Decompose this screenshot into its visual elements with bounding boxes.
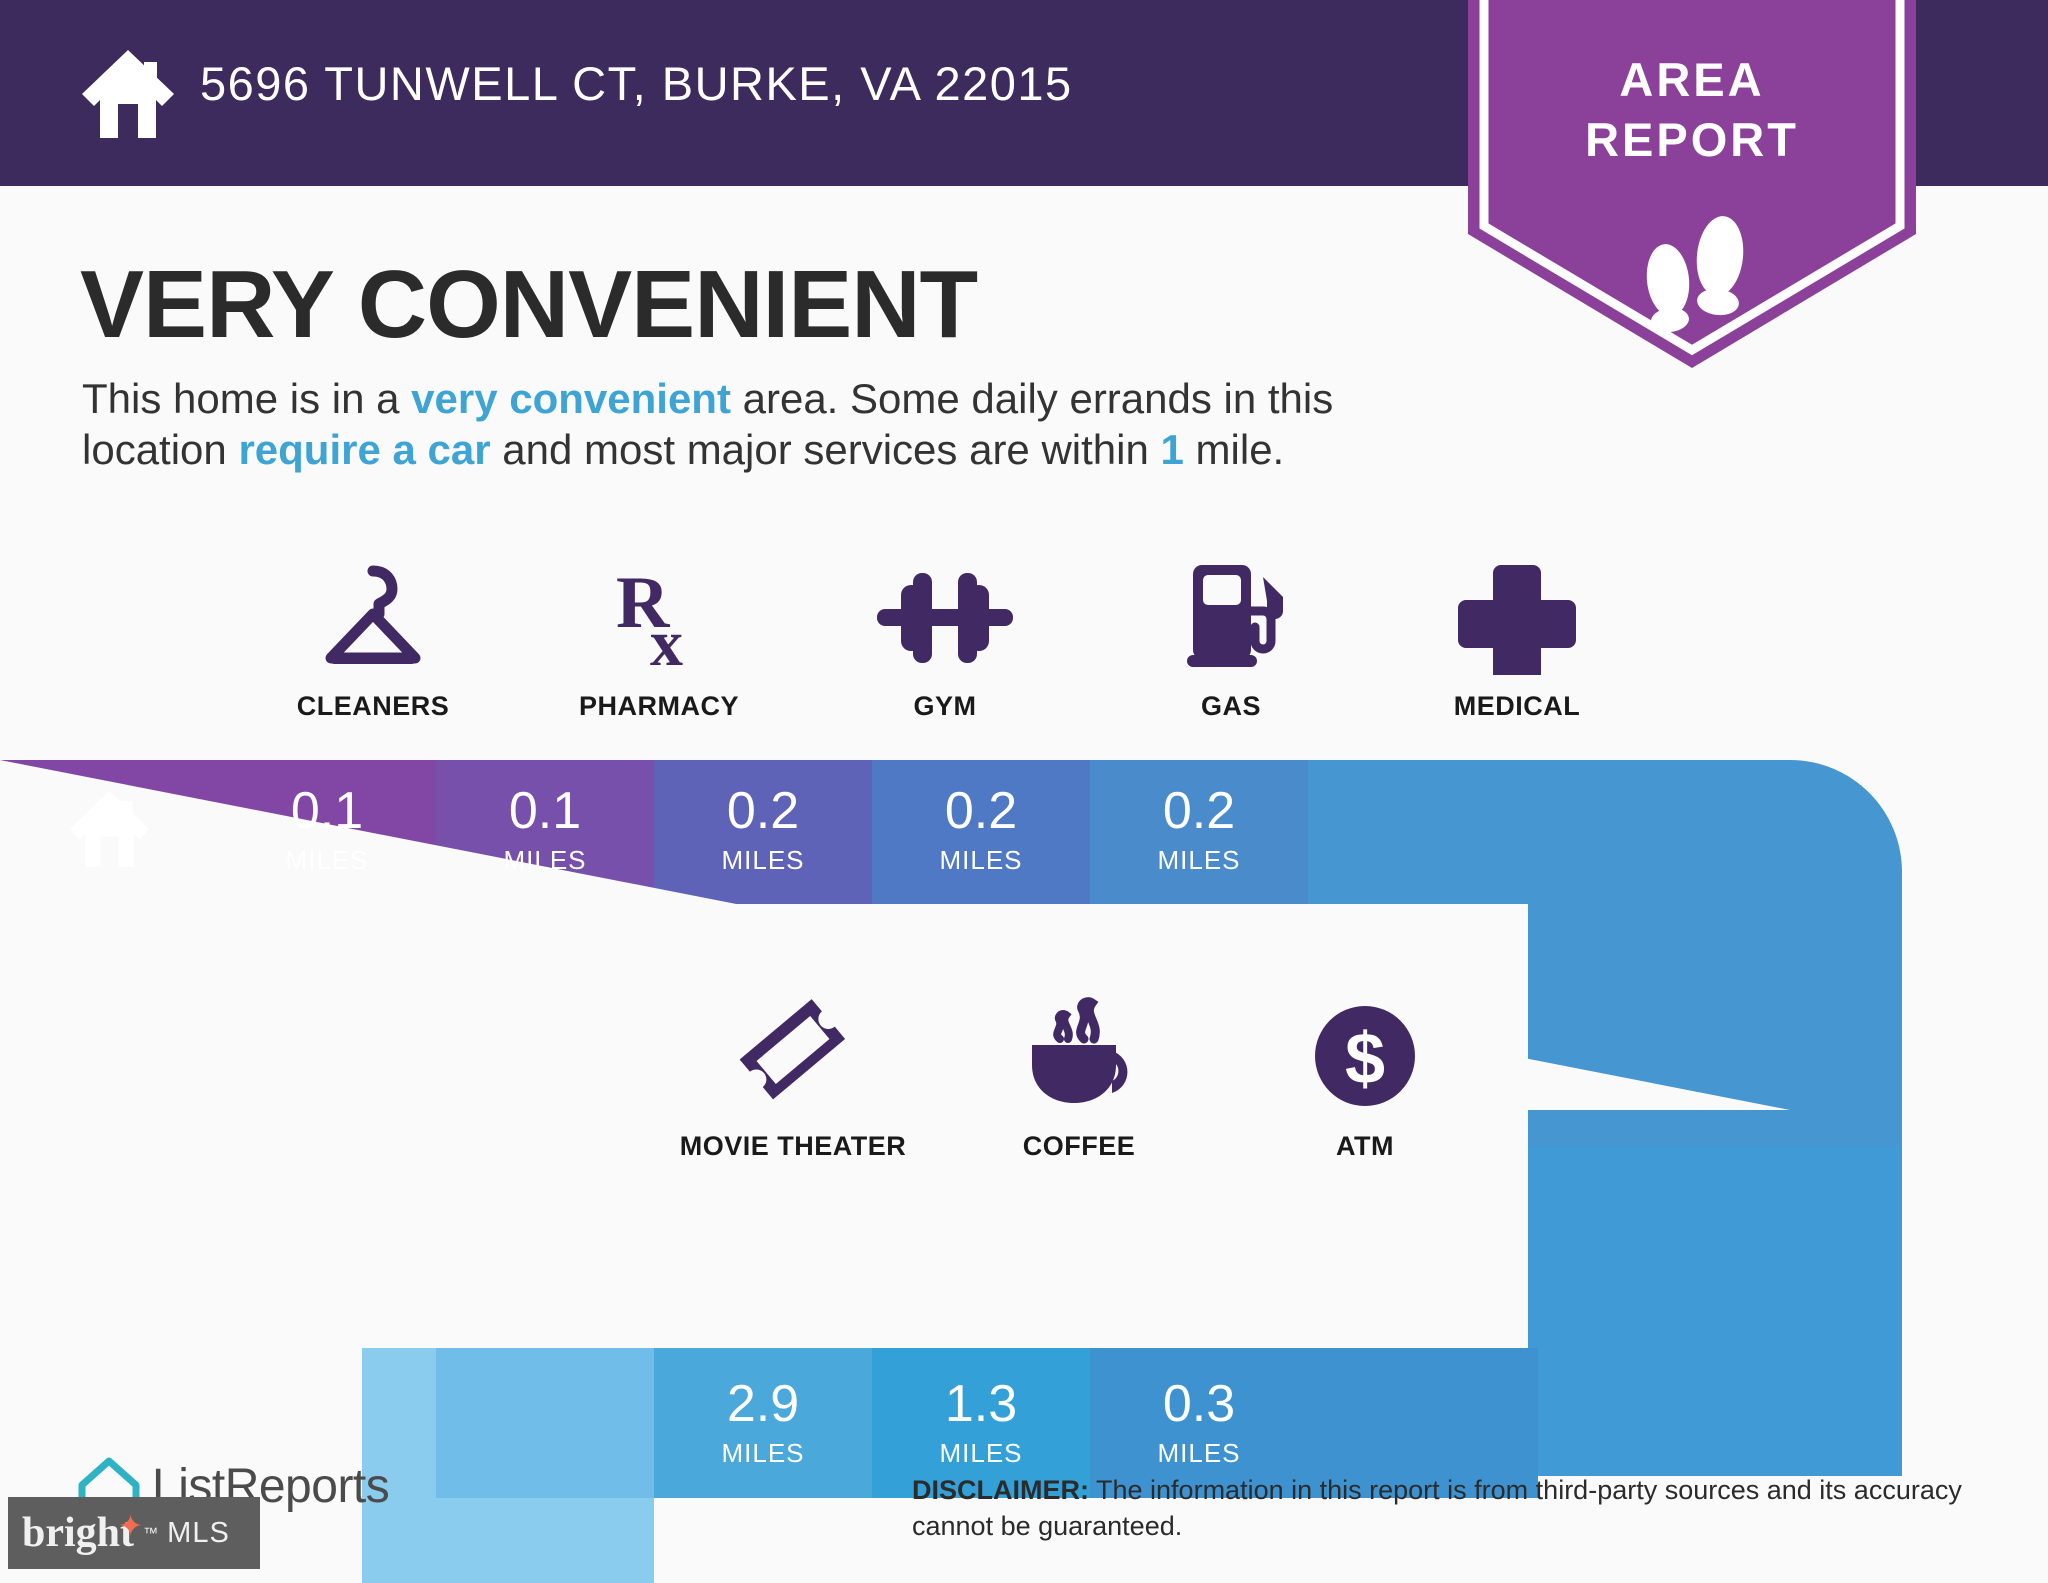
- distance-pharmacy: 0.1 MILES: [436, 756, 654, 904]
- hanger-icon: [314, 545, 432, 675]
- distance-unit: MILES: [721, 845, 804, 876]
- badge-line-2: REPORT: [1468, 112, 1916, 167]
- distance-gym: 0.2 MILES: [654, 756, 872, 904]
- bright-star-icon: ✦: [118, 1509, 143, 1544]
- bright-mls-watermark: bright ✦ ™ MLS: [8, 1497, 260, 1569]
- distance-movie-theater: 2.9 MILES: [654, 1348, 872, 1498]
- area-report-page: 5696 TUNWELL CT, BURKE, VA 22015 AREA RE…: [0, 0, 2048, 1583]
- summary-part-1: This home is in a: [82, 375, 411, 422]
- summary-highlight-2: require a car: [238, 426, 490, 473]
- home-marker: [0, 756, 218, 904]
- badge-line-1: AREA: [1468, 52, 1916, 107]
- summary-highlight-1: very convenient: [411, 375, 731, 422]
- gas-pump-icon: [1171, 545, 1291, 675]
- rx-icon: R x: [600, 545, 718, 675]
- distance-value: 1.3: [945, 1378, 1017, 1430]
- distance-unit: MILES: [1157, 845, 1240, 876]
- distance-value: 0.2: [727, 785, 799, 837]
- summary-highlight-3: 1: [1161, 426, 1184, 473]
- summary-part-3: and most major services are within: [491, 426, 1161, 473]
- page-title: VERY CONVENIENT: [80, 250, 977, 360]
- bright-mls-label: MLS: [167, 1517, 230, 1550]
- distance-value: 0.2: [945, 785, 1017, 837]
- area-report-badge: AREA REPORT: [1468, 0, 1916, 368]
- distance-unit: MILES: [285, 845, 368, 876]
- svg-text:x: x: [650, 607, 683, 675]
- summary-part-4: mile.: [1184, 426, 1284, 473]
- category-label: CLEANERS: [297, 691, 450, 722]
- distance-gas: 0.2 MILES: [872, 756, 1090, 904]
- medical-cross-icon: [1458, 545, 1576, 675]
- distance-cleaners: 0.1 MILES: [218, 756, 436, 904]
- distance-unit: MILES: [939, 1438, 1022, 1469]
- category-gym: GYM: [802, 545, 1088, 722]
- distance-value: 2.9: [727, 1378, 799, 1430]
- bright-tm: ™: [143, 1525, 158, 1542]
- distance-unit: MILES: [503, 845, 586, 876]
- home-icon: [78, 42, 178, 142]
- category-label: PHARMACY: [579, 691, 739, 722]
- distance-unit: MILES: [721, 1438, 804, 1469]
- distance-medical: 0.2 MILES: [1090, 756, 1308, 904]
- home-icon: [66, 785, 152, 876]
- disclaimer-label: DISCLAIMER:: [912, 1475, 1089, 1505]
- category-label: GAS: [1201, 691, 1261, 722]
- dumbbell-icon: [875, 545, 1015, 675]
- category-pharmacy: R x PHARMACY: [516, 545, 802, 722]
- category-label: MEDICAL: [1454, 691, 1581, 722]
- distance-value: 0.3: [1163, 1378, 1235, 1430]
- property-address: 5696 TUNWELL CT, BURKE, VA 22015: [200, 56, 1073, 111]
- disclaimer: DISCLAIMER: The information in this repo…: [912, 1472, 1982, 1545]
- distance-unit: MILES: [1157, 1438, 1240, 1469]
- summary-text: This home is in a very convenient area. …: [82, 373, 1462, 475]
- category-cleaners: CLEANERS: [230, 545, 516, 722]
- category-label: GYM: [913, 691, 976, 722]
- category-gas: GAS: [1088, 545, 1374, 722]
- distance-value: 0.2: [1163, 785, 1235, 837]
- distance-value: 0.1: [291, 785, 363, 837]
- distance-value: 0.1: [509, 785, 581, 837]
- category-medical: MEDICAL: [1374, 545, 1660, 722]
- distance-unit: MILES: [939, 845, 1022, 876]
- category-icon-row-primary: CLEANERS R x PHARMACY: [230, 545, 1660, 722]
